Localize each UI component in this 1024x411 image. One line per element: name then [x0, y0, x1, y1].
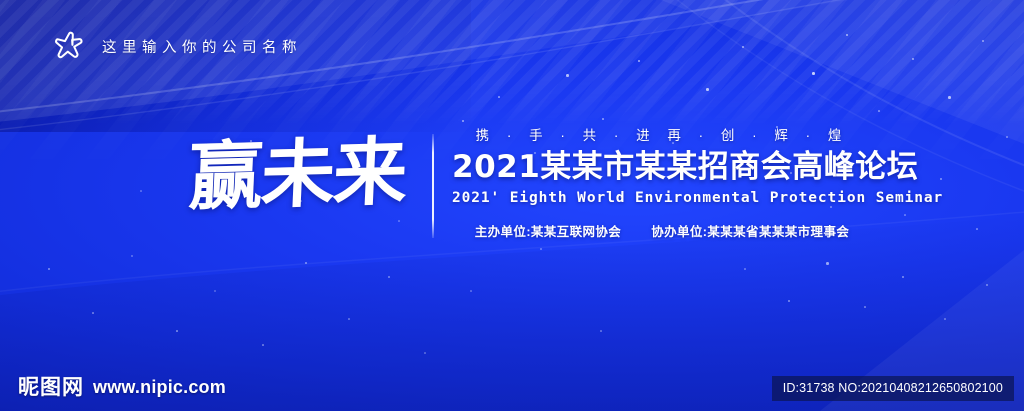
hero-text-block: 携 · 手 · 共 · 进 再 · 创 · 辉 · 煌 2021某某市某某招商会…	[452, 118, 872, 240]
brand-header: 这里输入你的公司名称	[52, 28, 302, 64]
watermark-url-label: www.nipic.com	[93, 378, 226, 397]
english-subtitle: 2021' Eighth World Environmental Protect…	[452, 190, 872, 206]
flower-logo-icon	[52, 28, 88, 64]
host-organizer: 主办单位:某某互联网协会	[475, 221, 621, 240]
vertical-divider	[432, 134, 434, 238]
banner-canvas: 这里输入你的公司名称 赢未来 携 · 手 · 共 · 进 再 · 创 · 辉 ·…	[0, 0, 1024, 411]
site-watermark: 昵图网 www.nipic.com	[18, 376, 226, 397]
tagline: 携 · 手 · 共 · 进 再 · 创 · 辉 · 煌	[452, 124, 872, 144]
organizer-row: 主办单位:某某互联网协会 协办单位:某某某省某某某市理事会	[452, 221, 872, 240]
image-id-badge: ID:31738 NO:20210408212650802100	[772, 376, 1014, 401]
calligraphy-title: 赢未来	[183, 120, 411, 230]
co-organizer: 协办单位:某某某省某某某市理事会	[651, 221, 849, 240]
headline-title: 2021某某市某某招商会高峰论坛	[452, 151, 872, 184]
watermark-cn-label: 昵图网	[18, 376, 84, 397]
calligraphy-text: 赢未来	[187, 135, 407, 215]
company-name-label: 这里输入你的公司名称	[102, 36, 302, 57]
hero-section: 赢未来 携 · 手 · 共 · 进 再 · 创 · 辉 · 煌 2021某某市某…	[0, 118, 1024, 248]
